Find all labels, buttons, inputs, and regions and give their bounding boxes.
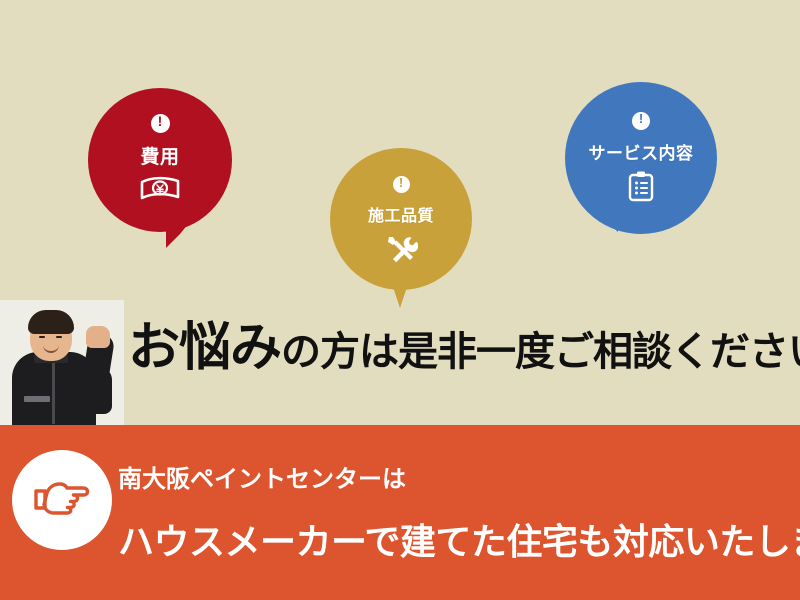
footer-company-line: 南大阪ペイントセンターは — [118, 459, 406, 494]
photo-jacket-zipper — [52, 362, 55, 424]
photo-hair — [28, 310, 74, 334]
bubble-cost-label: 費用 — [140, 142, 179, 169]
headline-rest: の方は是非一度ご相談ください！ — [281, 332, 800, 372]
exclamation-icon: ! — [632, 112, 650, 130]
pointing-hand-icon — [30, 473, 94, 528]
headline-emphasis: お悩み — [128, 322, 281, 374]
exclamation-icon: ! — [393, 176, 410, 193]
clipboard-icon — [627, 170, 655, 207]
bubble-service-label: サービス内容 — [589, 139, 694, 164]
money-bill-icon — [139, 175, 181, 210]
staff-photo — [0, 300, 124, 425]
promo-banner: ! 費用 ! 施工品質 ! サービス内容 — [0, 0, 800, 600]
photo-eye-right — [56, 336, 62, 338]
photo-fist — [86, 326, 110, 348]
bubble-quality-label: 施工品質 — [368, 202, 434, 226]
footer-banner: 南大阪ペイントセンターは ハウスメーカーで建てた住宅も対応いたします — [0, 425, 800, 600]
tools-icon — [384, 233, 418, 270]
exclamation-icon: ! — [151, 114, 170, 133]
bubble-cost[interactable]: ! 費用 — [88, 88, 232, 232]
pointing-hand-badge — [12, 450, 112, 550]
bubble-service[interactable]: ! サービス内容 — [565, 82, 717, 234]
photo-chest-logo — [24, 396, 50, 402]
photo-eye-left — [39, 336, 45, 338]
bubble-quality[interactable]: ! 施工品質 — [330, 148, 472, 290]
footer-message-line: ハウスメーカーで建てた住宅も対応いたします — [118, 513, 800, 565]
headline: お悩み の方は是非一度ご相談ください！ — [128, 322, 800, 382]
